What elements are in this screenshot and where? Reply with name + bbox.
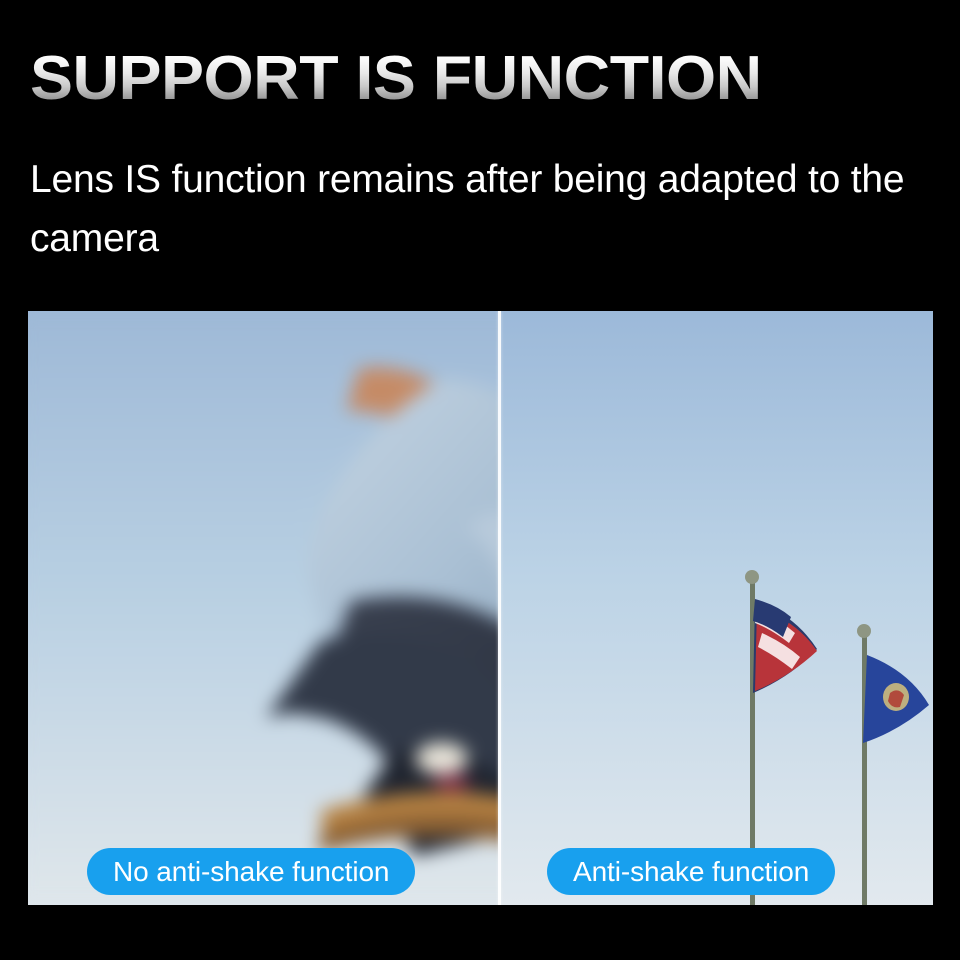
photo-half-sharp: TROPIC bbox=[498, 311, 933, 905]
label-no-anti-shake: No anti-shake function bbox=[87, 848, 415, 895]
skateboarder-illustration-sharp: TROPIC bbox=[498, 311, 933, 905]
page-title: SUPPORT IS FUNCTION bbox=[30, 48, 762, 110]
photo-half-blurred bbox=[28, 311, 498, 905]
promo-card: SUPPORT IS FUNCTION Lens IS function rem… bbox=[0, 0, 960, 960]
comparison-divider[interactable] bbox=[498, 311, 501, 905]
scene-blurred bbox=[28, 311, 498, 905]
subtitle-text: Lens IS function remains after being ada… bbox=[30, 150, 935, 269]
label-anti-shake: Anti-shake function bbox=[547, 848, 835, 895]
skateboarder-illustration-blurred bbox=[28, 311, 498, 905]
photo-stage: TROPIC bbox=[28, 311, 933, 905]
scene-sharp: TROPIC bbox=[498, 311, 933, 905]
comparison-photo: TROPIC bbox=[28, 311, 933, 905]
